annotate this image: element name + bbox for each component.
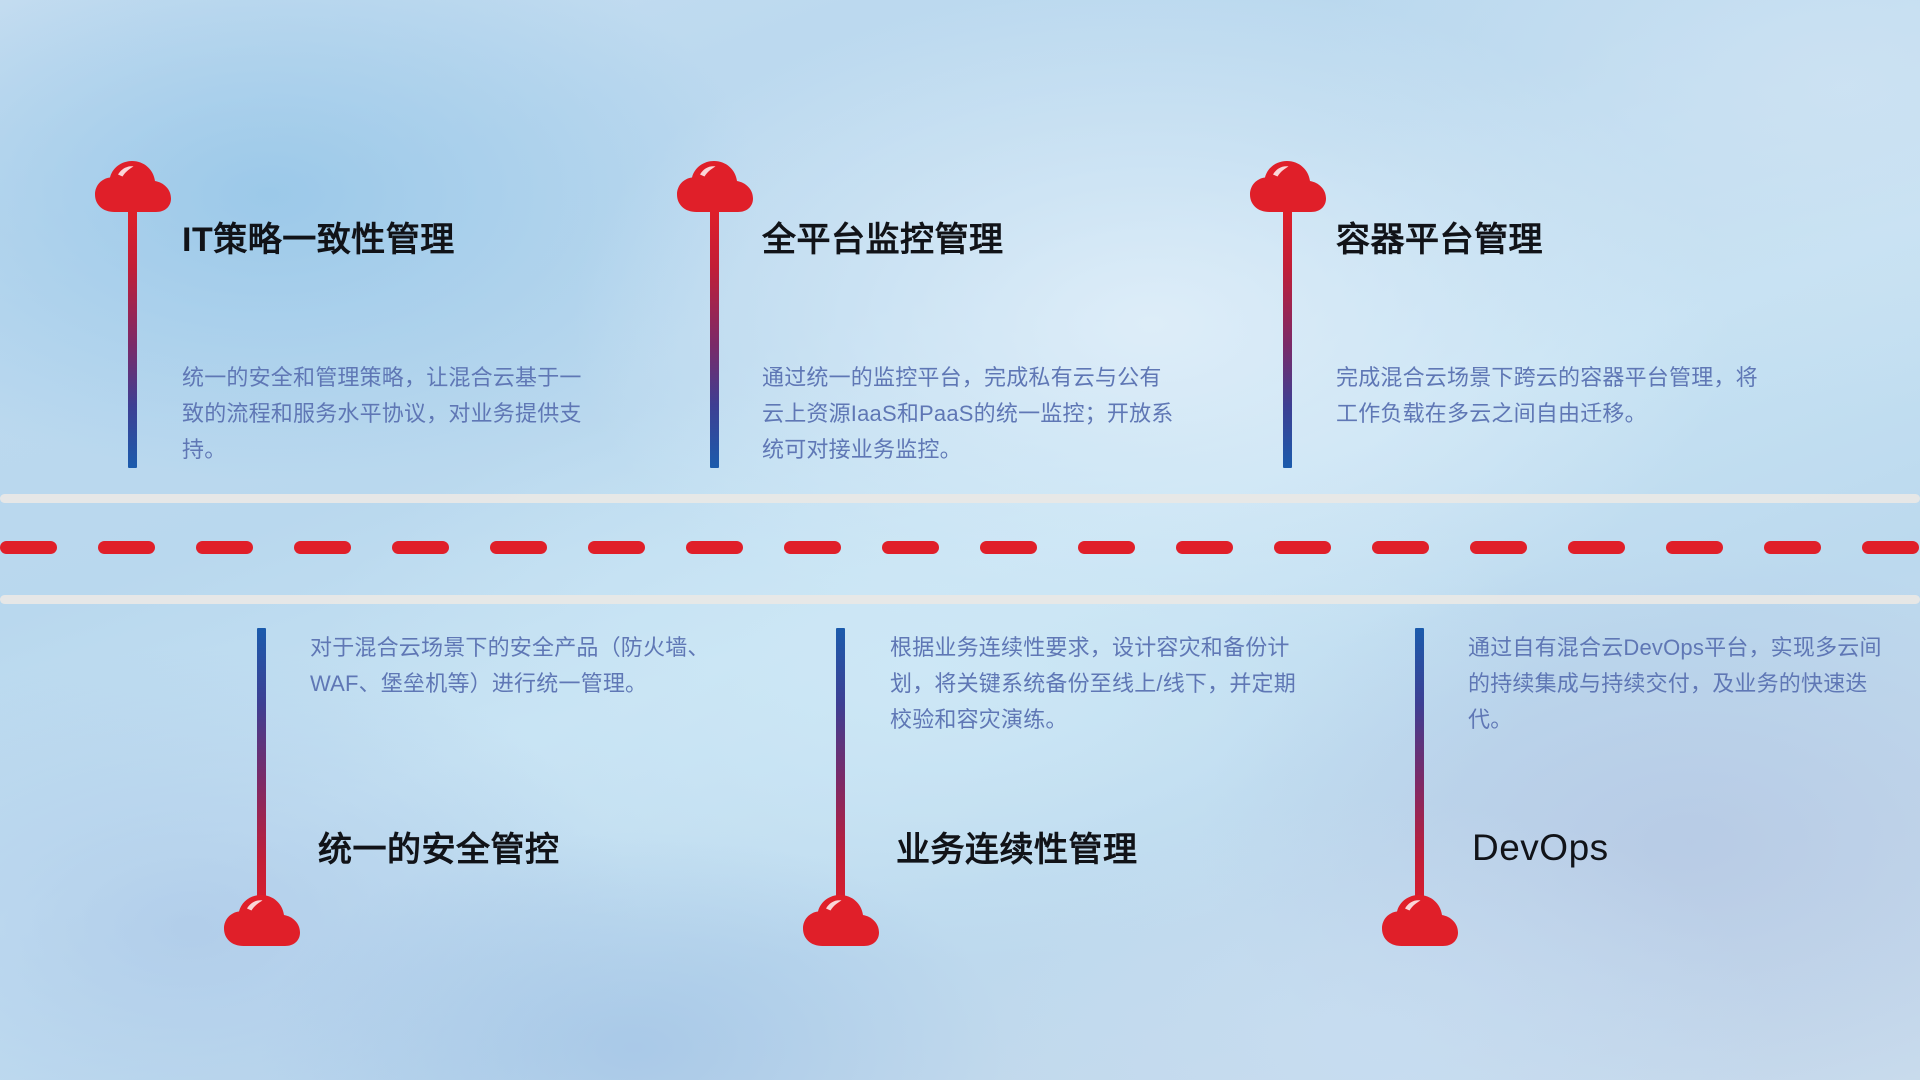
column-title: IT策略一致性管理 xyxy=(182,222,455,259)
column-description: 通过自有混合云DevOps平台，实现多云间的持续集成与持续交付，及业务的快速迭代… xyxy=(1468,630,1888,738)
road-dash xyxy=(392,541,449,554)
column-description: 统一的安全和管理策略，让混合云基于一致的流程和服务水平协议，对业务提供支持。 xyxy=(182,360,602,468)
road-dash xyxy=(1078,541,1135,554)
column-description: 完成混合云场景下跨云的容器平台管理，将工作负载在多云之间自由迁移。 xyxy=(1336,360,1766,432)
road-dash xyxy=(1274,541,1331,554)
timeline-stem xyxy=(1415,628,1424,918)
road-dash xyxy=(1176,541,1233,554)
cloud-icon xyxy=(223,894,301,948)
column-title: 统一的安全管控 xyxy=(318,832,560,869)
cloud-icon xyxy=(802,894,880,948)
column-description: 根据业务连续性要求，设计容灾和备份计划，将关键系统备份至线上/线下，并定期校验和… xyxy=(890,630,1310,738)
timeline-stem xyxy=(1283,210,1292,468)
road-dash xyxy=(1372,541,1429,554)
column-description: 通过统一的监控平台，完成私有云与公有云上资源IaaS和PaaS的统一监控；开放系… xyxy=(762,360,1182,468)
timeline-stem xyxy=(128,210,137,468)
road-dash xyxy=(490,541,547,554)
timeline-stem xyxy=(257,628,266,918)
road-dash xyxy=(784,541,841,554)
road-dash xyxy=(686,541,743,554)
infographic-canvas: IT策略一致性管理 统一的安全和管理策略，让混合云基于一致的流程和服务水平协议，… xyxy=(0,0,1920,1080)
road-dash xyxy=(588,541,645,554)
column-title: 全平台监控管理 xyxy=(762,222,1004,259)
road-dash xyxy=(0,541,57,554)
timeline-stem xyxy=(836,628,845,918)
road-dash xyxy=(1470,541,1527,554)
road-dash-track xyxy=(0,541,1920,554)
cloud-icon xyxy=(94,160,172,214)
road-dash xyxy=(1666,541,1723,554)
road-dash xyxy=(196,541,253,554)
cloud-icon xyxy=(676,160,754,214)
road-line-bottom xyxy=(0,595,1920,604)
cloud-icon xyxy=(1249,160,1327,214)
column-title: 容器平台管理 xyxy=(1336,222,1543,259)
road-dash xyxy=(294,541,351,554)
column-title: DevOps xyxy=(1472,828,1609,869)
timeline-stem xyxy=(710,210,719,468)
road-dash xyxy=(980,541,1037,554)
road-dash xyxy=(98,541,155,554)
road-dash xyxy=(882,541,939,554)
column-title: 业务连续性管理 xyxy=(896,832,1138,869)
road-dash xyxy=(1764,541,1821,554)
road-dash xyxy=(1862,541,1919,554)
road-line-top xyxy=(0,494,1920,503)
road-dash xyxy=(1568,541,1625,554)
column-description: 对于混合云场景下的安全产品（防火墙、WAF、堡垒机等）进行统一管理。 xyxy=(310,630,730,702)
cloud-icon xyxy=(1381,894,1459,948)
